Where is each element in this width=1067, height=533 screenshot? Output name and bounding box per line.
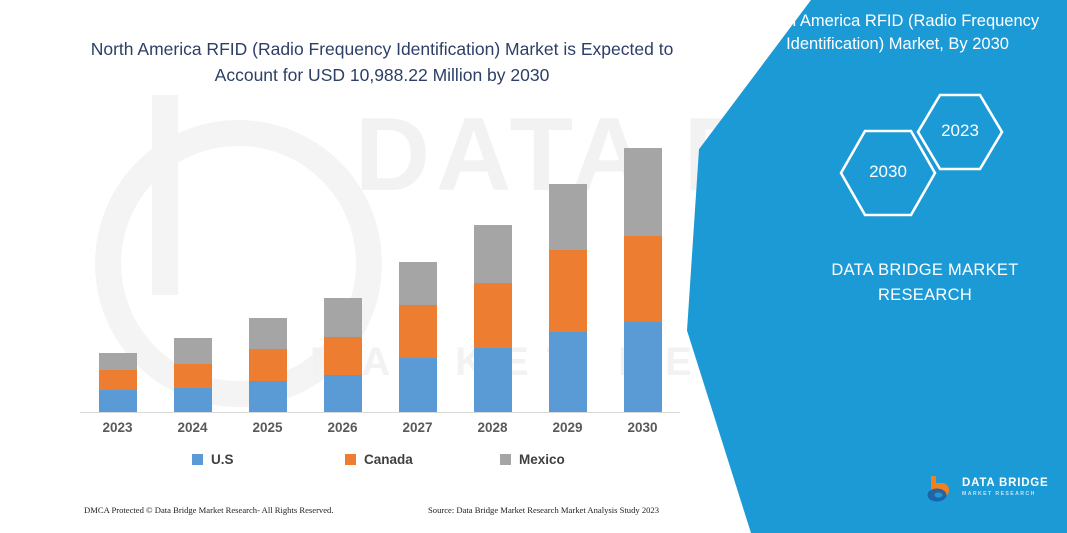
legend-swatch-mexico xyxy=(500,454,511,465)
x-axis-label-2026: 2026 xyxy=(313,420,373,435)
bar-segment-mexico-2029 xyxy=(549,184,587,250)
legend-swatch-us xyxy=(192,454,203,465)
x-axis-label-2023: 2023 xyxy=(88,420,148,435)
hexagon-badges: 2030 2023 xyxy=(820,92,1040,222)
bar-segment-us-2026 xyxy=(324,375,362,412)
legend-label-us: U.S xyxy=(211,452,234,467)
bar-segment-us-2028 xyxy=(474,348,512,412)
legend-item-mexico[interactable]: Mexico xyxy=(500,452,565,467)
chart-legend: U.SCanadaMexico xyxy=(80,452,680,478)
legend-label-canada: Canada xyxy=(364,452,413,467)
bar-segment-us-2025 xyxy=(249,381,287,412)
data-bridge-logo-mark xyxy=(925,473,955,503)
bar-segment-mexico-2028 xyxy=(474,225,512,283)
bar-segment-us-2027 xyxy=(399,358,437,412)
bar-segment-mexico-2030 xyxy=(624,148,662,236)
legend-item-canada[interactable]: Canada xyxy=(345,452,413,467)
chart-plot-area xyxy=(80,120,680,412)
panel-brand-text: DATA BRIDGE MARKET RESEARCH xyxy=(790,258,1060,308)
logo-line1: DATA BRIDGE xyxy=(962,478,1049,490)
bar-segment-us-2024 xyxy=(174,388,212,412)
hexagon-2023: 2023 xyxy=(915,92,1005,172)
bar-2029 xyxy=(549,184,587,412)
chart-baseline xyxy=(80,412,680,413)
logo-line2: MARKET RESEARCH xyxy=(962,492,1049,497)
bar-segment-mexico-2025 xyxy=(249,318,287,349)
bar-2024 xyxy=(174,338,212,412)
bar-2026 xyxy=(324,298,362,412)
legend-label-mexico: Mexico xyxy=(519,452,565,467)
data-bridge-logo: DATA BRIDGE MARKET RESEARCH xyxy=(925,473,1049,503)
bar-segment-canada-2027 xyxy=(399,305,437,358)
stacked-bar-chart: 20232024202520262027202820292030 xyxy=(80,120,680,415)
bar-segment-canada-2024 xyxy=(174,364,212,388)
footer-copyright: DMCA Protected © Data Bridge Market Rese… xyxy=(84,505,334,515)
chart-x-axis-labels: 20232024202520262027202820292030 xyxy=(80,416,680,440)
bar-2028 xyxy=(474,225,512,412)
bar-segment-us-2030 xyxy=(624,322,662,412)
bar-segment-canada-2023 xyxy=(99,370,137,390)
panel-title: North America RFID (Radio Frequency Iden… xyxy=(735,10,1060,56)
bar-segment-canada-2026 xyxy=(324,337,362,375)
bar-segment-mexico-2027 xyxy=(399,262,437,305)
bar-segment-us-2023 xyxy=(99,390,137,412)
bar-2027 xyxy=(399,262,437,412)
x-axis-label-2025: 2025 xyxy=(238,420,298,435)
infographic-canvas: DATA BRIDGE MARKET RESEARCH North Americ… xyxy=(0,0,1067,533)
x-axis-label-2029: 2029 xyxy=(538,420,598,435)
bar-2025 xyxy=(249,318,287,412)
page-title: North America RFID (Radio Frequency Iden… xyxy=(62,36,702,88)
x-axis-label-2024: 2024 xyxy=(163,420,223,435)
legend-swatch-canada xyxy=(345,454,356,465)
footer: DMCA Protected © Data Bridge Market Rese… xyxy=(0,505,760,529)
bar-segment-us-2029 xyxy=(549,332,587,412)
bar-segment-canada-2029 xyxy=(549,250,587,332)
bar-segment-canada-2025 xyxy=(249,349,287,381)
data-bridge-logo-text: DATA BRIDGE MARKET RESEARCH xyxy=(962,478,1049,497)
bar-segment-canada-2030 xyxy=(624,236,662,322)
bar-segment-mexico-2024 xyxy=(174,338,212,364)
bar-2023 xyxy=(99,353,137,412)
bar-2030 xyxy=(624,148,662,412)
footer-source: Source: Data Bridge Market Research Mark… xyxy=(428,505,659,515)
x-axis-label-2028: 2028 xyxy=(463,420,523,435)
x-axis-label-2027: 2027 xyxy=(388,420,448,435)
x-axis-label-2030: 2030 xyxy=(613,420,673,435)
hexagon-2023-label: 2023 xyxy=(915,121,1005,141)
bar-segment-mexico-2023 xyxy=(99,353,137,370)
bar-segment-canada-2028 xyxy=(474,283,512,348)
legend-item-us[interactable]: U.S xyxy=(192,452,234,467)
bar-segment-mexico-2026 xyxy=(324,298,362,337)
